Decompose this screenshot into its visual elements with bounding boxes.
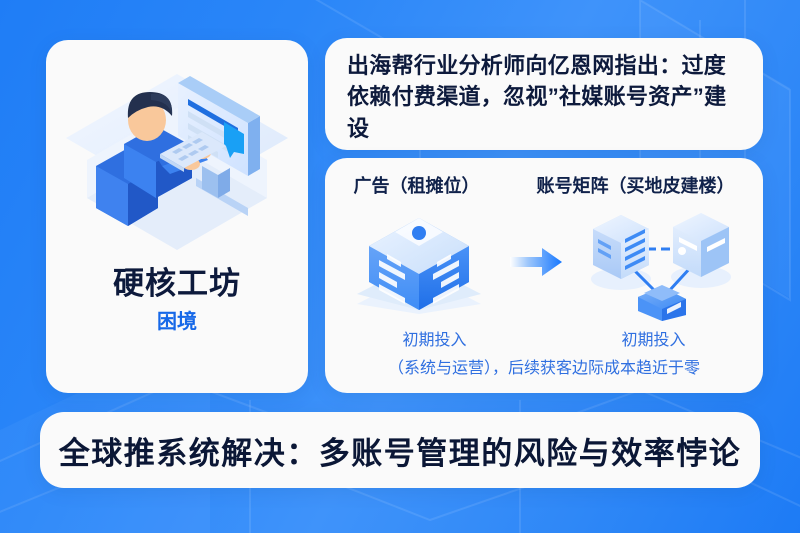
poster-canvas: 硬核工坊 困境 出海帮行业分析师向亿恩网指出：过度依赖付费渠道，忽视”社媒账号资… (0, 0, 800, 533)
isometric-building-icon (351, 206, 487, 318)
bottom-banner: 全球推系统解决：多账号管理的风险与效率悖论 (40, 412, 760, 488)
quote-card: 出海帮行业分析师向亿恩网指出：过度依赖付费渠道，忽视”社媒账号资产”建设 (325, 38, 763, 150)
diagram-left-caption: 初期投入 (402, 326, 466, 350)
comparison-diagram-card: 广告（租摊位） 账号矩阵（买地皮建楼） (325, 158, 763, 393)
left-feature-card: 硬核工坊 困境 (46, 40, 308, 393)
diagram-right-heading: 账号矩阵（买地皮建楼） (537, 172, 735, 198)
diagram-right-caption: 初期投入 (621, 326, 685, 350)
diagram-left-heading: 广告（租摊位） (354, 172, 480, 198)
diagram-artwork-row (325, 204, 763, 319)
banner-text: 全球推系统解决：多账号管理的风险与效率悖论 (59, 428, 742, 473)
right-arrow-icon (508, 245, 564, 279)
diagram-note: （系统与运营），后续获客边际成本趋近于零 (325, 354, 763, 378)
person-at-desk-illustration (52, 48, 302, 263)
left-card-title: 硬核工坊 (113, 267, 241, 301)
left-card-subtitle: 困境 (157, 311, 197, 333)
quote-text: 出海帮行业分析师向亿恩网指出：过度依赖付费渠道，忽视”社媒账号资产”建设 (347, 50, 747, 144)
diagram-headings: 广告（租摊位） 账号矩阵（买地皮建楼） (325, 172, 763, 198)
isometric-server-network-icon (585, 203, 737, 321)
diagram-captions: 初期投入 初期投入 (325, 326, 763, 350)
